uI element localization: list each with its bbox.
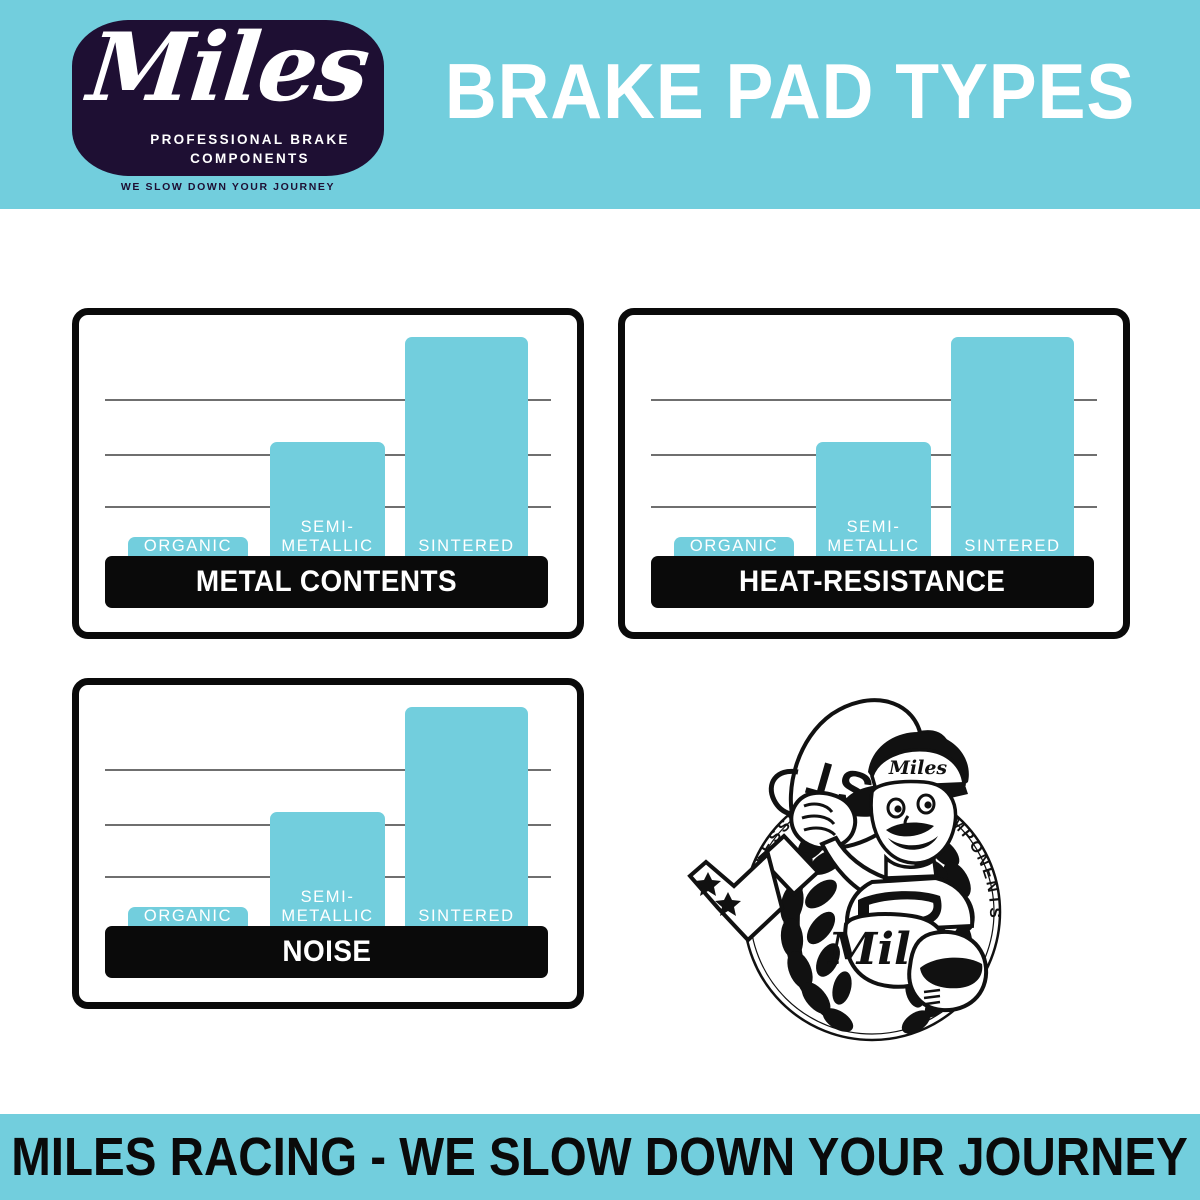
- chart-panel-metal-contents: ORGANIC SEMI- METALLIC SINTERED METAL CO…: [72, 308, 584, 639]
- bar-label-semi-metallic: SEMI- METALLIC: [270, 518, 385, 556]
- mascot-cap-wordmark: Miles: [888, 757, 948, 779]
- panel-title-bar: HEAT-RESISTANCE: [651, 556, 1094, 608]
- bar-label-semi-metallic: SEMI- METALLIC: [270, 888, 385, 926]
- chart-panel-noise: ORGANIC SEMI- METALLIC SINTERED NOISE: [72, 678, 584, 1009]
- brand-logo-badge: Miles PROFESSIONAL BRAKE COMPONENTS: [72, 20, 384, 176]
- chart-plot-area: ORGANIC SEMI- METALLIC SINTERED NOISE: [79, 685, 577, 1002]
- brand-script-wordmark: Miles: [72, 20, 384, 122]
- chart-plot-area: ORGANIC SEMI- METALLIC SINTERED METAL CO…: [79, 315, 577, 632]
- footer-text: MILES RACING - WE SLOW DOWN YOUR JOURNEY: [12, 1126, 1189, 1188]
- panel-title-text: NOISE: [282, 935, 371, 969]
- mascot-svg: PROFESSIONAL BRAKE COMPONENTS: [672, 676, 1072, 1072]
- mascot-racer-trophy-illustration: PROFESSIONAL BRAKE COMPONENTS: [672, 676, 1072, 1072]
- bar-label-organic: ORGANIC: [674, 537, 794, 556]
- bar-label-organic: ORGANIC: [128, 907, 248, 926]
- bar-label-sintered: SINTERED: [405, 907, 528, 926]
- bar-label-organic: ORGANIC: [128, 537, 248, 556]
- panel-title-bar: NOISE: [105, 926, 548, 978]
- chart-plot-area: ORGANIC SEMI- METALLIC SINTERED HEAT-RES…: [625, 315, 1123, 632]
- brand-subtitle-line2: COMPONENTS: [116, 151, 384, 166]
- header-band: Miles PROFESSIONAL BRAKE COMPONENTS WE S…: [0, 0, 1200, 209]
- footer-band: MILES RACING - WE SLOW DOWN YOUR JOURNEY: [0, 1114, 1200, 1200]
- bar-label-semi-metallic: SEMI- METALLIC: [816, 518, 931, 556]
- panel-title-bar: METAL CONTENTS: [105, 556, 548, 608]
- brand-tagline: WE SLOW DOWN YOUR JOURNEY: [72, 181, 384, 193]
- page-title: BRAKE PAD TYPES: [440, 46, 1139, 137]
- panel-title-text: HEAT-RESISTANCE: [739, 565, 1005, 599]
- panel-title-text: METAL CONTENTS: [196, 565, 457, 599]
- chart-panel-heat-resistance: ORGANIC SEMI- METALLIC SINTERED HEAT-RES…: [618, 308, 1130, 639]
- bar-label-sintered: SINTERED: [405, 537, 528, 556]
- brand-subtitle-line1: PROFESSIONAL BRAKE: [116, 132, 384, 147]
- bar-label-sintered: SINTERED: [951, 537, 1074, 556]
